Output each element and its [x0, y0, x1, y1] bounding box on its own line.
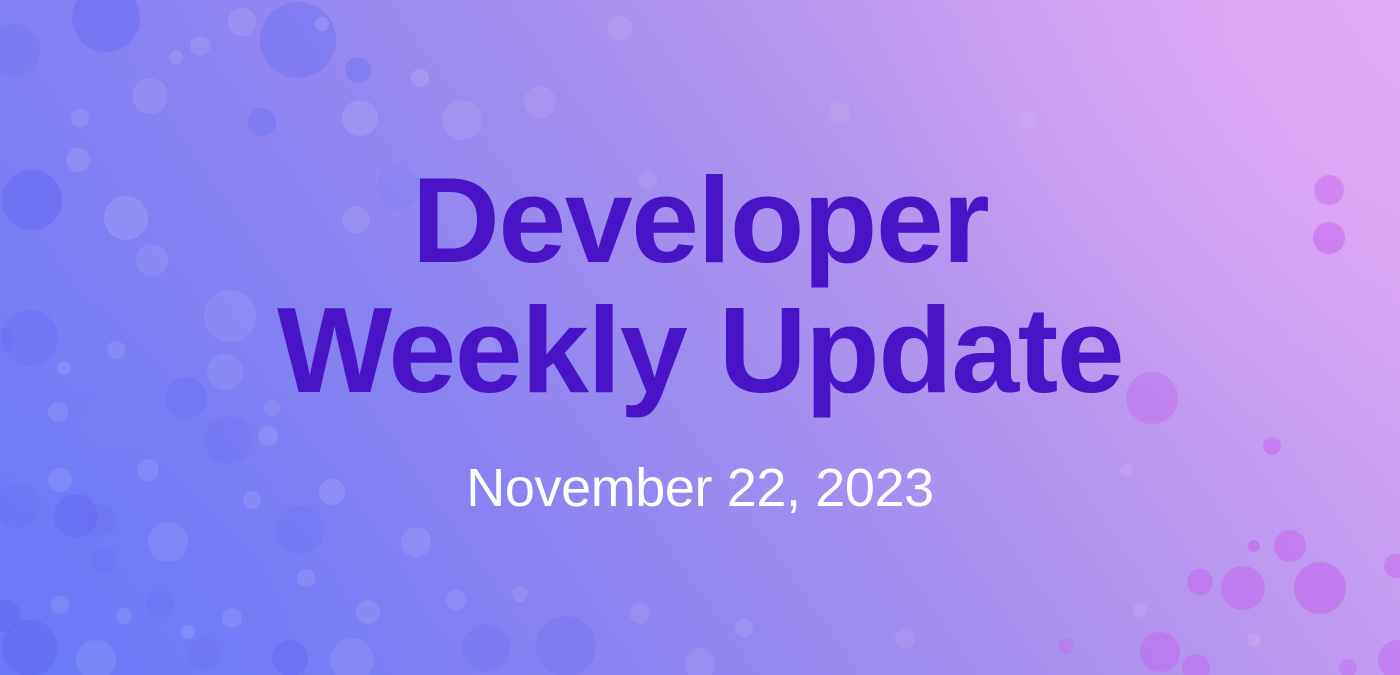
issue-date: November 22, 2023: [466, 459, 934, 518]
page-title: Developer Weekly Update: [277, 156, 1123, 415]
banner-content: Developer Weekly Update November 22, 202…: [0, 0, 1400, 675]
weekly-update-banner: Developer Weekly Update November 22, 202…: [0, 0, 1400, 675]
